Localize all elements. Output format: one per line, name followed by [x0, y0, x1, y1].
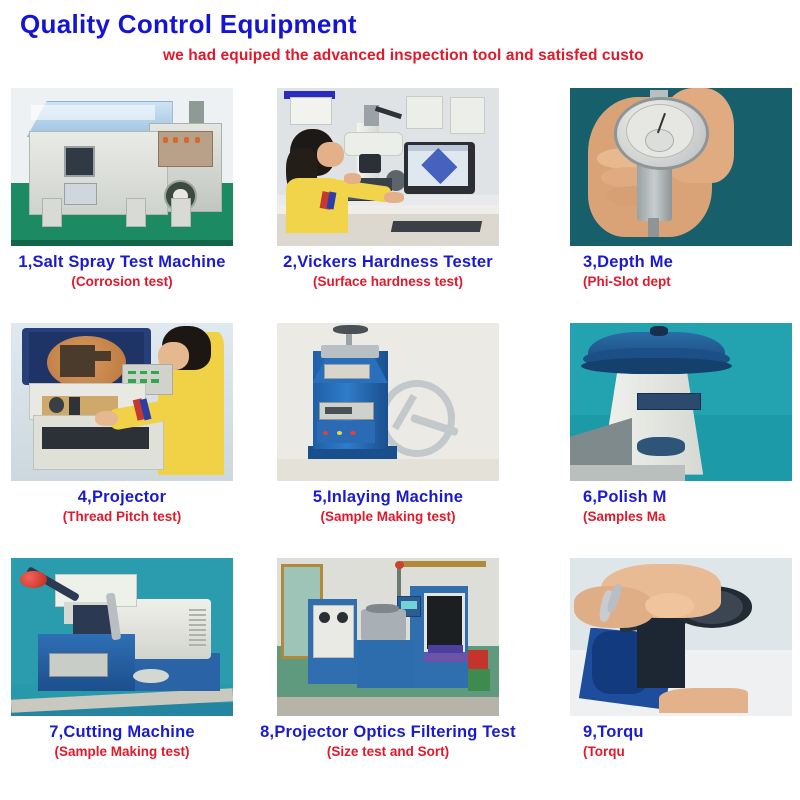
equipment-card-2[interactable]: 2,Vickers Hardness Tester (Surface hardn…: [258, 88, 518, 289]
gallery-row: 4,Projector (Thread Pitch test): [0, 323, 800, 558]
equipment-card-8[interactable]: 8,Projector Optics Filtering Test (Size …: [258, 558, 518, 759]
equipment-subcaption: (Torqu: [525, 744, 785, 759]
depth-meter-photo: [570, 88, 792, 246]
equipment-card-5[interactable]: 5,Inlaying Machine (Sample Making test): [258, 323, 518, 524]
equipment-card-6[interactable]: 6,Polish M (Samples Ma: [525, 323, 785, 524]
equipment-caption: 1,Salt Spray Test Machine: [0, 253, 252, 272]
equipment-gallery-grid: 1,Salt Spray Test Machine (Corrosion tes…: [0, 88, 800, 793]
equipment-card-4[interactable]: 4,Projector (Thread Pitch test): [0, 323, 252, 524]
equipment-caption: 7,Cutting Machine: [0, 723, 252, 742]
equipment-caption: 5,Inlaying Machine: [258, 488, 518, 507]
equipment-caption: 3,Depth Me: [525, 253, 785, 272]
equipment-caption: 6,Polish M: [525, 488, 785, 507]
projector-photo: [11, 323, 233, 481]
equipment-subcaption: (Thread Pitch test): [0, 509, 252, 524]
equipment-caption: 4,Projector: [0, 488, 252, 507]
cutting-machine-photo: [11, 558, 233, 716]
equipment-caption: 9,Torqu: [525, 723, 785, 742]
equipment-subcaption: (Samples Ma: [525, 509, 785, 524]
equipment-subcaption: (Size test and Sort): [258, 744, 518, 759]
equipment-card-7[interactable]: 7,Cutting Machine (Sample Making test): [0, 558, 252, 759]
equipment-subcaption: (Sample Making test): [0, 744, 252, 759]
vickers-hardness-tester-photo: [277, 88, 499, 246]
equipment-caption: 8,Projector Optics Filtering Test: [258, 723, 518, 742]
polish-machine-photo: [570, 323, 792, 481]
equipment-subcaption: (Corrosion test): [0, 274, 252, 289]
equipment-subcaption: (Surface hardness test): [258, 274, 518, 289]
equipment-card-1[interactable]: 1,Salt Spray Test Machine (Corrosion tes…: [0, 88, 252, 289]
page-subtitle: we had equiped the advanced inspection t…: [163, 47, 644, 65]
equipment-subcaption: (Phi-Slot dept: [525, 274, 785, 289]
equipment-subcaption: (Sample Making test): [258, 509, 518, 524]
gallery-row: 1,Salt Spray Test Machine (Corrosion tes…: [0, 88, 800, 323]
torque-meter-photo: [570, 558, 792, 716]
gallery-row: 7,Cutting Machine (Sample Making test): [0, 558, 800, 793]
equipment-card-9[interactable]: 9,Torqu (Torqu: [525, 558, 785, 759]
inlaying-machine-photo: [277, 323, 499, 481]
salt-spray-test-machine-photo: [11, 88, 233, 246]
equipment-card-3[interactable]: 3,Depth Me (Phi-Slot dept: [525, 88, 785, 289]
page-title: Quality Control Equipment: [20, 9, 357, 40]
quality-control-equipment-page: Quality Control Equipment we had equiped…: [0, 0, 800, 800]
projector-optics-filtering-test-photo: [277, 558, 499, 716]
equipment-caption: 2,Vickers Hardness Tester: [258, 253, 518, 272]
